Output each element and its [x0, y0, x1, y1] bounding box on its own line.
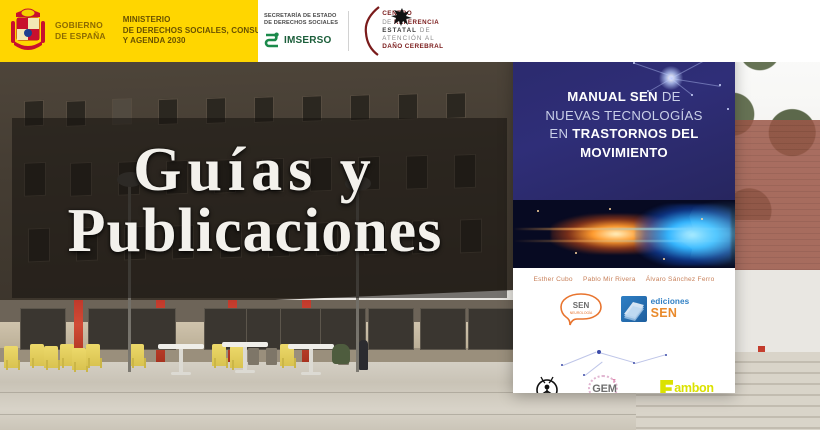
spark-dot [537, 210, 539, 212]
gobierno-label-line1: GOBIERNO [55, 20, 106, 31]
network-edge [563, 352, 597, 366]
ceadac-text-block: CENTRO DE REFERENCIA ESTATAL DE ATENCIÓN… [382, 10, 443, 51]
ceadac-line3-estatal: ESTATAL [382, 27, 417, 34]
ministerio-line2: DE DERECHOS SOCIALES, CONSUMO [123, 26, 274, 37]
ministerio-line1: MINISTERIO [123, 15, 274, 26]
trash-bin [248, 348, 259, 365]
outdoor-table [288, 344, 334, 349]
imserso-logo: IMSERSO [264, 32, 338, 49]
book-cover[interactable]: MANUAL SEN DE NUEVAS TECNOLOGÍAS EN TRAS… [513, 50, 735, 393]
outdoor-chair [44, 346, 58, 368]
book-title-trastornos: TRASTORNOS DEL [572, 126, 698, 141]
gobierno-label-line2: DE ESPAÑA [55, 31, 106, 42]
ceadac-logo: CENTRO DE REFERENCIA ESTATAL DE ATENCIÓN… [363, 5, 443, 57]
outdoor-chair [130, 344, 144, 366]
book-cover-bottom-panel: Esther Cubo Pablo Mir Rivera Álvaro Sánc… [513, 268, 735, 393]
ceadac-splat-icon [391, 7, 413, 27]
outdoor-chair [4, 346, 18, 368]
author-name: Esther Cubo [533, 276, 572, 283]
page-title: Guías y Publicaciones [0, 140, 510, 262]
outdoor-table [222, 342, 268, 347]
ceadac-arc-icon [363, 5, 381, 57]
network-edge [599, 352, 634, 363]
book-title-manual-sen: MANUAL SEN [567, 89, 658, 104]
outdoor-chair [230, 346, 244, 368]
ceadac-line3: ESTATAL DE [382, 27, 443, 35]
book-cover-image-band [513, 200, 735, 268]
ediciones-sen-text: ediciones SEN [651, 298, 690, 320]
book-title: MANUAL SEN DE NUEVAS TECNOLOGÍAS EN TRAS… [521, 88, 727, 163]
shrub [332, 344, 350, 364]
outdoor-chair [86, 344, 100, 366]
ediciones-sen-book-icon [621, 296, 647, 322]
outdoor-table [158, 344, 204, 349]
book-title-line1: MANUAL SEN DE [521, 88, 727, 107]
svg-text:SEN: SEN [572, 301, 589, 310]
zambon-z-mark [660, 380, 673, 393]
sen-label: SEN [651, 307, 690, 320]
light-ray [513, 240, 735, 242]
book-title-de: DE [662, 89, 681, 104]
spain-coat-of-arms-icon [8, 7, 48, 55]
book-title-line2: NUEVAS TECNOLOGÍAS [521, 107, 727, 126]
ceadac-line5: DAÑO CEREBRAL [382, 43, 443, 51]
agency-logos-block: SECRETARÍA DE ESTADO DE DERECHOS SOCIALE… [258, 0, 820, 62]
sen-speech-bubble-icon: SEN NEUROLOGÍA [559, 292, 603, 326]
fundacion-persona-icon [534, 375, 560, 393]
spark-dot [663, 258, 665, 260]
zambon-label: ambon [674, 381, 713, 393]
author-name: Pablo Mir Rivera [583, 276, 636, 283]
secretaria-estado-block: SECRETARÍA DE ESTADO DE DERECHOS SOCIALE… [264, 13, 338, 50]
secretaria-line1: SECRETARÍA DE ESTADO [264, 13, 338, 20]
gobierno-de-espana-block: GOBIERNO DE ESPAÑA MINISTERIO DE DERECHO… [0, 0, 258, 62]
ceadac-line3-de: DE [420, 27, 431, 34]
sponsor-logos: GEM T ambon [513, 374, 735, 393]
publisher-logos: SEN NEUROLOGÍA ediciones SEN [513, 292, 735, 326]
banner-canvas: GOBIERNO DE ESPAÑA MINISTERIO DE DERECHO… [0, 0, 820, 430]
header-divider [348, 11, 349, 51]
outdoor-chair [30, 344, 44, 366]
spark-dot [701, 218, 703, 220]
getm-superscript: T [612, 379, 615, 385]
secretaria-line2: DE DERECHOS SOCIALES [264, 20, 338, 27]
ministerio-line3: Y AGENDA 2030 [123, 36, 274, 47]
ediciones-sen-logo: ediciones SEN [621, 296, 690, 322]
page-title-line2: Publicaciones [0, 201, 510, 262]
imserso-logo-icon [264, 32, 280, 49]
ground-window [368, 308, 414, 350]
government-header-bar: GOBIERNO DE ESPAÑA MINISTERIO DE DERECHO… [0, 0, 820, 62]
author-name: Álvaro Sánchez Ferro [646, 276, 715, 283]
person-figure [359, 340, 368, 370]
network-node [727, 108, 729, 110]
imserso-label: IMSERSO [284, 35, 332, 46]
book-title-line3: EN TRASTORNOS DEL [521, 125, 727, 144]
book-cover-top-panel: MANUAL SEN DE NUEVAS TECNOLOGÍAS EN TRAS… [513, 50, 735, 200]
zambon-logo-icon: ambon [660, 380, 713, 393]
spark-dot [575, 252, 577, 254]
page-title-line1: Guías y [0, 140, 510, 201]
book-authors: Esther Cubo Pablo Mir Rivera Álvaro Sánc… [513, 276, 735, 283]
svg-text:NEUROLOGÍA: NEUROLOGÍA [569, 311, 592, 315]
trash-bin [266, 348, 277, 365]
ground-window [420, 308, 466, 350]
book-title-line4: MOVIMIENTO [521, 144, 727, 163]
getm-logo-icon: GEM T [586, 374, 634, 393]
outdoor-chair [212, 344, 226, 366]
network-edge [635, 354, 666, 364]
outdoor-chair [72, 348, 86, 370]
book-title-en: EN [549, 126, 568, 141]
light-ray [513, 228, 735, 230]
spark-dot [609, 208, 611, 210]
